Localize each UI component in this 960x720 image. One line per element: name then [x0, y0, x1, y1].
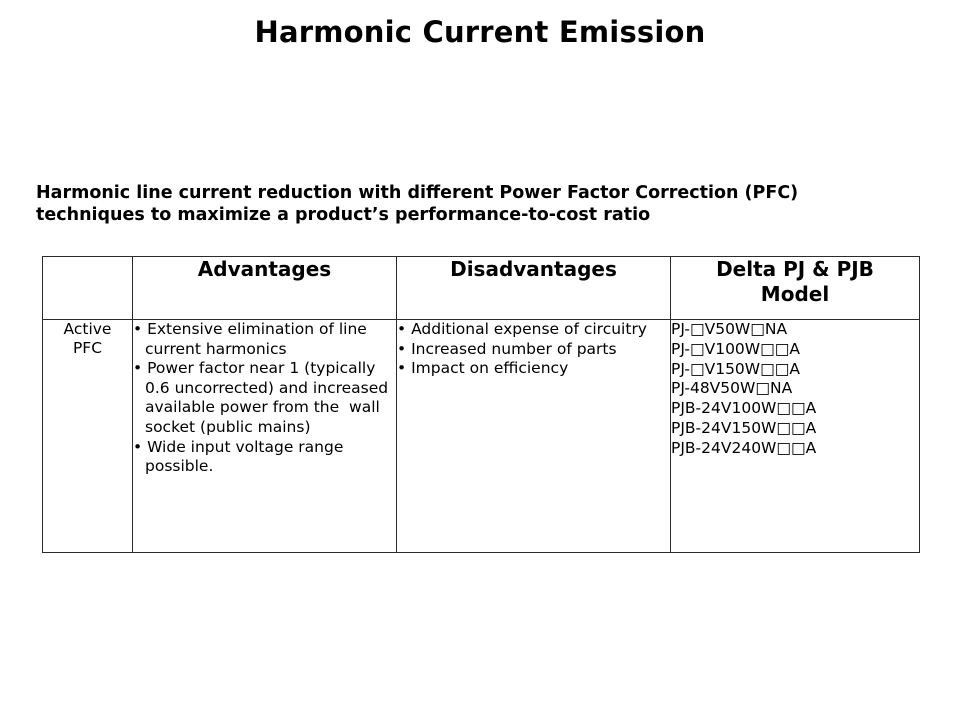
list-item: PJB-24V150W□□A: [671, 419, 919, 439]
table-row: Active PFC • Extensive elimination of li…: [43, 320, 920, 553]
pfc-comparison-table: Advantages Disadvantages Delta PJ & PJB …: [42, 256, 920, 553]
list-item: PJB-24V240W□□A: [671, 439, 919, 459]
list-item: • Power factor near 1 (typically 0.6 unc…: [133, 359, 396, 437]
list-item: PJ-□V50W□NA: [671, 320, 919, 340]
disadvantages-list: • Additional expense of circuitry • Incr…: [397, 320, 670, 379]
intro-paragraph: Harmonic line current reduction with dif…: [36, 182, 736, 226]
list-item: • Additional expense of circuitry: [397, 320, 670, 340]
row-label-line-2: PFC: [43, 339, 132, 358]
row-label-line-1: Active: [43, 320, 132, 339]
cell-model-numbers: PJ-□V50W□NA PJ-□V100W□□A PJ-□V150W□□A PJ…: [671, 320, 920, 553]
cell-advantages: • Extensive elimination of line current …: [133, 320, 397, 553]
intro-line-1: Harmonic line current reduction with dif…: [36, 182, 736, 204]
model-number-list: PJ-□V50W□NA PJ-□V100W□□A PJ-□V150W□□A PJ…: [671, 320, 919, 459]
row-label-active-pfc: Active PFC: [43, 320, 133, 553]
slide-canvas: Harmonic Current Emission Harmonic line …: [0, 0, 960, 720]
list-item: PJ-□V150W□□A: [671, 360, 919, 380]
page-title: Harmonic Current Emission: [0, 15, 960, 49]
header-cell-blank: [43, 257, 133, 320]
list-item: PJ-□V100W□□A: [671, 340, 919, 360]
header-cell-disadvantages: Disadvantages: [397, 257, 671, 320]
header-model-line-1: Delta PJ & PJB: [716, 257, 874, 281]
cell-disadvantages: • Additional expense of circuitry • Incr…: [397, 320, 671, 553]
header-model-line-2: Model: [671, 282, 919, 307]
header-cell-advantages: Advantages: [133, 257, 397, 320]
list-item: PJ-48V50W□NA: [671, 379, 919, 399]
intro-line-2: techniques to maximize a product’s perfo…: [36, 204, 736, 226]
list-item: PJB-24V100W□□A: [671, 399, 919, 419]
list-item: • Wide input voltage range possible.: [133, 438, 396, 477]
table-header-row: Advantages Disadvantages Delta PJ & PJB …: [43, 257, 920, 320]
advantages-list: • Extensive elimination of line current …: [133, 320, 396, 477]
list-item: • Increased number of parts: [397, 340, 670, 360]
header-cell-model: Delta PJ & PJB Model: [671, 257, 920, 320]
list-item: • Impact on efficiency: [397, 359, 670, 379]
list-item: • Extensive elimination of line current …: [133, 320, 396, 359]
